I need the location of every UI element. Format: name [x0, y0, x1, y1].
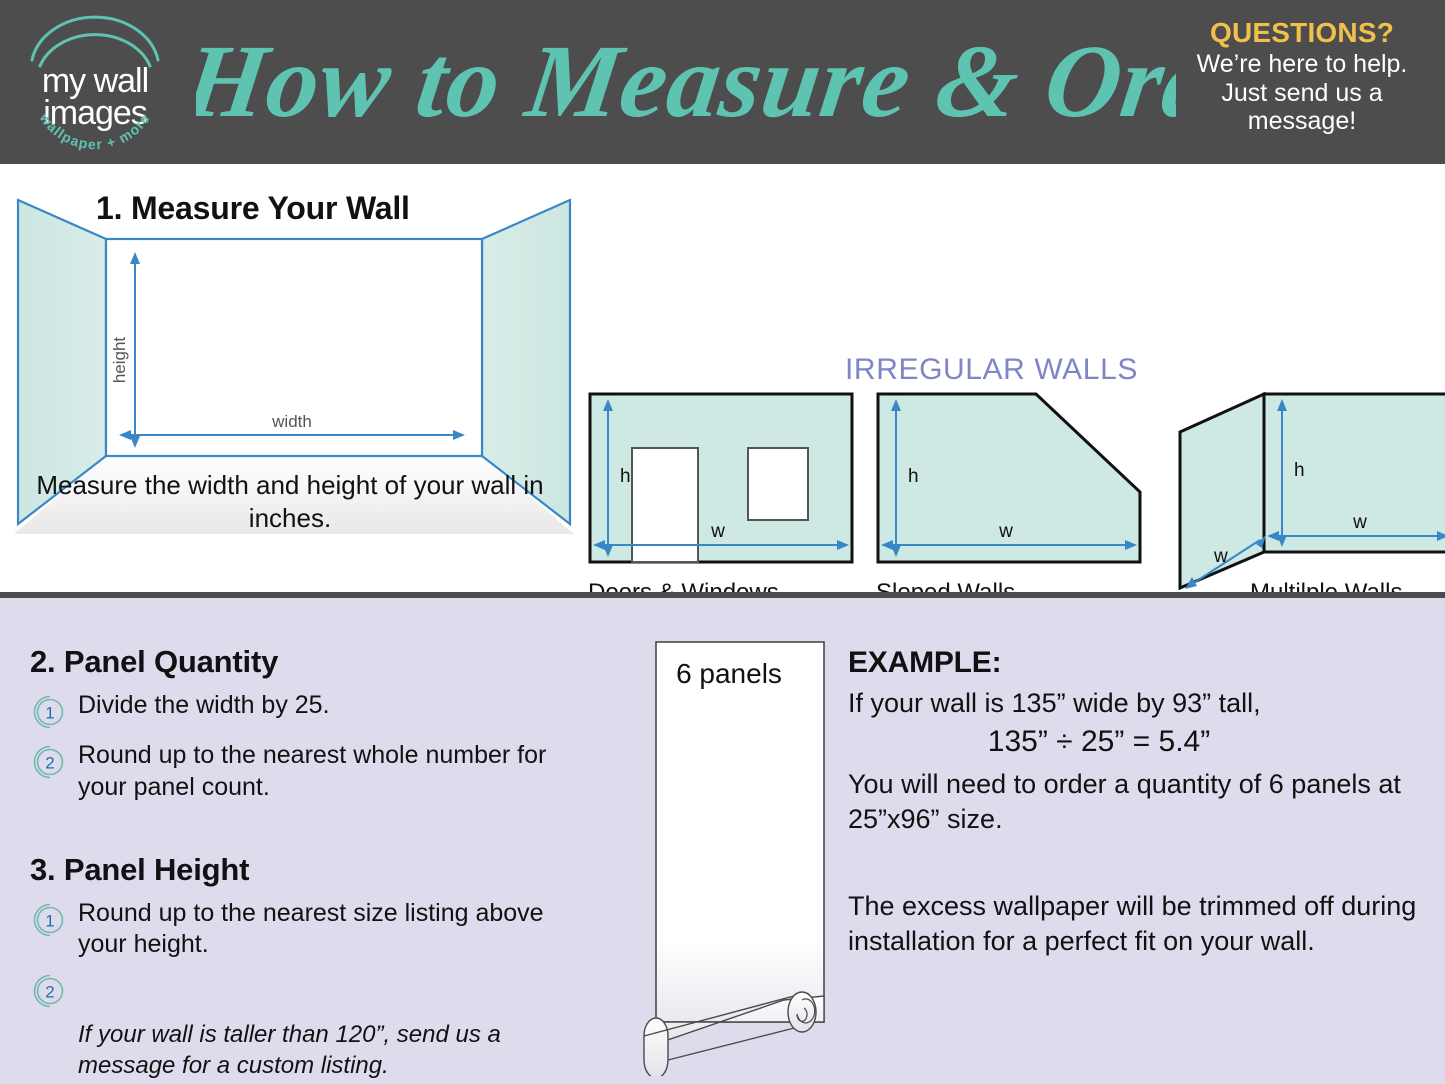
step-number-badge: 1 — [30, 900, 70, 940]
h-label: h — [908, 466, 919, 487]
width-label: width — [271, 412, 312, 431]
example-line-3: The excess wallpaper will be trimmed off… — [848, 889, 1428, 959]
h-label: h — [1294, 460, 1305, 481]
panel-section: 2. Panel Quantity 1 Divide the width by … — [0, 598, 1445, 1084]
svg-text:2: 2 — [45, 983, 54, 1002]
step-number-badge: 2 — [30, 742, 70, 782]
step-text: Round up to the nearest whole number for… — [78, 740, 590, 804]
w-label: w — [710, 521, 725, 542]
questions-heading: QUESTIONS? — [1175, 18, 1429, 47]
doors-windows-diagram: h w — [588, 392, 860, 570]
w-label: w — [998, 521, 1013, 542]
roll-panel-count-label: 6 panels — [634, 658, 824, 690]
multiple-walls-diagram: h w w — [1164, 392, 1436, 570]
panel-height-heading: 3. Panel Height — [30, 852, 590, 888]
height-label: height — [110, 337, 129, 384]
h-label: h — [620, 466, 631, 487]
svg-text:2: 2 — [45, 754, 54, 773]
brand-logo: my wall images wallpaper + more — [16, 14, 174, 154]
example-spacer — [848, 837, 1428, 889]
panel-height-note: If your wall is taller than 120”, send u… — [78, 1019, 590, 1081]
step-number-badge: 1 — [30, 692, 70, 732]
panel-quantity-step-1: 1 Divide the width by 25. — [30, 690, 590, 732]
page-title: How to Measure & Order — [196, 8, 1176, 156]
panel-height-step-2: 2 — [30, 969, 590, 1011]
example-line-2: You will need to order a quantity of 6 p… — [848, 767, 1428, 837]
svg-text:How to Measure & Order: How to Measure & Order — [196, 23, 1176, 138]
infographic-page: my wall images wallpaper + more How to M… — [0, 0, 1445, 1084]
panel-height-step-1: 1 Round up to the nearest size listing a… — [30, 898, 590, 962]
step-text: Round up to the nearest size listing abo… — [78, 898, 590, 962]
example-heading: EXAMPLE: — [848, 646, 1428, 680]
measure-section: height width 1. Measure Your Wall Measur… — [0, 164, 1445, 597]
page-header: my wall images wallpaper + more How to M… — [0, 0, 1445, 164]
step-text: Divide the width by 25. — [78, 690, 330, 722]
questions-body: We’re here to help. Just send us a messa… — [1175, 50, 1429, 135]
wallpaper-roll-illustration: 6 panels — [634, 640, 846, 1076]
example-line-1: If your wall is 135” wide by 93” tall, — [848, 686, 1428, 721]
w-label-side: w — [1213, 546, 1228, 567]
step-number-badge: 2 — [30, 971, 70, 1011]
example-column: EXAMPLE: If your wall is 135” wide by 93… — [848, 646, 1428, 959]
panel-quantity-step-2: 2 Round up to the nearest whole number f… — [30, 740, 590, 804]
panel-steps-column: 2. Panel Quantity 1 Divide the width by … — [30, 644, 590, 1081]
irregular-walls-title: IRREGULAR WALLS — [845, 353, 1138, 387]
panel-quantity-heading: 2. Panel Quantity — [30, 644, 590, 680]
svg-text:1: 1 — [45, 704, 54, 723]
questions-block: QUESTIONS? We’re here to help. Just send… — [1175, 18, 1429, 135]
w-label: w — [1352, 512, 1367, 533]
measure-caption: Measure the width and height of your wal… — [10, 469, 570, 534]
example-equation: 135” ÷ 25” = 5.4” — [848, 725, 1428, 759]
measure-step-title: 1. Measure Your Wall — [96, 190, 410, 227]
sloped-walls-diagram: h w — [876, 392, 1148, 570]
svg-text:1: 1 — [45, 911, 54, 930]
